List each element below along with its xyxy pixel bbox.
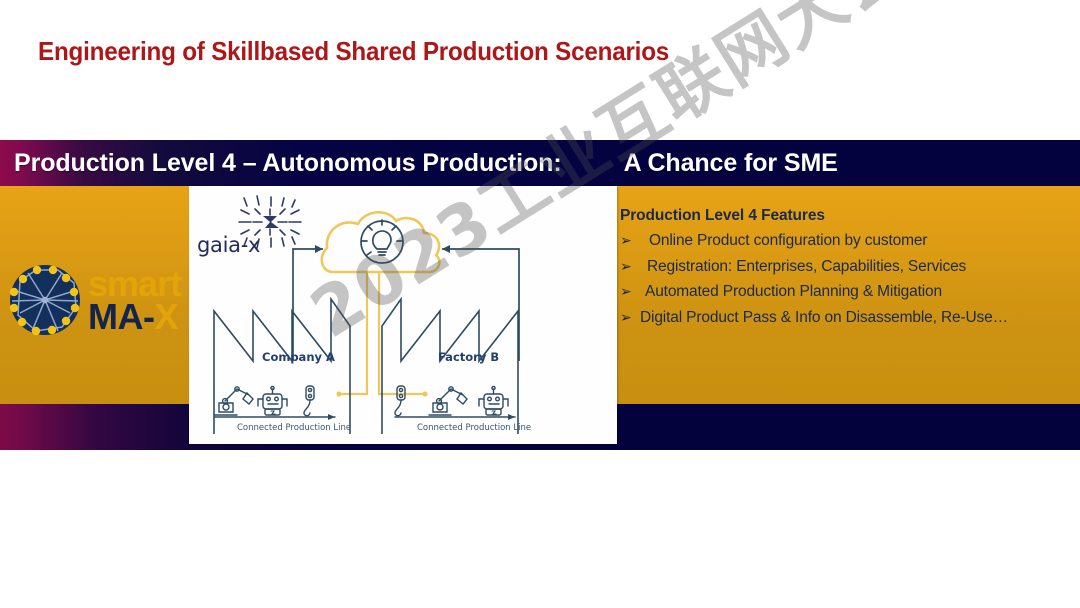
list-item-label: Automated Production Planning & Mitigati… [640,280,1072,305]
list-item-label: Registration: Enterprises, Capabilities,… [640,255,1072,280]
arrow-bullet-icon: ➢ [620,305,640,330]
list-item: ➢ Automated Production Planning & Mitiga… [620,279,1072,305]
left-input-arrow [293,245,323,361]
banner-header-bar: Production Level 4 – Autonomous Producti… [0,140,1080,186]
smart-max-logo-text: smart MA-X [88,267,181,334]
logo-line-2: MA-X [88,300,181,333]
factory-a-label: Company A [262,350,335,364]
robot-arm-icon [215,387,253,415]
factory-b-label: Factory B [438,350,499,364]
features-heading: Production Level 4 Features [620,207,1072,225]
arrow-bullet-icon: ➢ [620,279,640,304]
logo-line-2-accent: X [154,296,178,337]
page-title: Engineering of Skillbased Shared Product… [38,36,669,67]
logo-line-2-prefix: MA- [88,296,154,337]
factory-a-icons [215,386,335,420]
gaia-x-label: gaia-x [197,233,260,257]
diagram-panel: gaia-x [189,186,617,444]
list-item-label: Online Product configuration by customer [640,229,1072,254]
features-list: Production Level 4 Features ➢ Online Pro… [620,207,1072,330]
arrow-bullet-icon: ➢ [620,254,640,279]
robot-arm-icon [429,387,467,415]
list-item: ➢ Digital Product Pass & Info on Disasse… [620,305,1072,331]
arrow-bullet-icon: ➢ [620,228,640,253]
lightbulb-icon [361,220,403,263]
crane-hook-icon [304,386,314,416]
robot-icon [258,386,287,415]
factory-b-line-label: Connected Production Line [417,423,531,433]
banner-title-right: A Chance for SME [624,149,838,178]
smart-max-logo: smart MA-X [6,252,191,348]
list-item: ➢ Online Product configuration by custom… [620,228,1072,254]
factory-company-a [214,299,350,434]
banner-header-text-group: Production Level 4 – Autonomous Producti… [14,142,838,184]
factory-a-line-label: Connected Production Line [237,423,351,433]
factory-factory-b [382,299,518,434]
logo-line-1: smart [88,267,181,300]
crane-hook-icon [395,386,405,416]
list-item: ➢ Registration: Enterprises, Capabilitie… [620,254,1072,280]
list-item-label: Digital Product Pass & Info on Disassemb… [640,306,1072,331]
banner-title-left: Production Level 4 – Autonomous Producti… [14,149,562,178]
factory-b-icons [395,386,515,420]
smart-max-globe-icon [6,261,84,339]
production-network-diagram: gaia-x [189,186,617,444]
robot-icon [479,386,508,415]
